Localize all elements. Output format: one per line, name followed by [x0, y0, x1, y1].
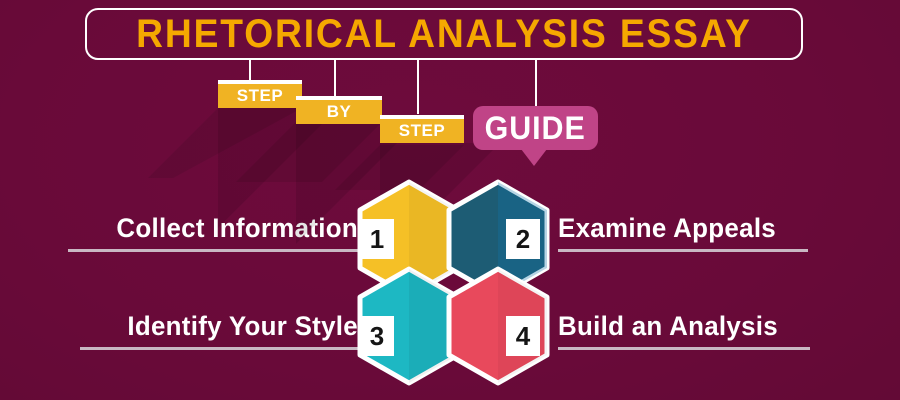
- hexagon-step-4-number: 4: [506, 316, 540, 356]
- step-label-2: Examine Appeals: [558, 215, 808, 252]
- step-label-1-text: Collect Information: [80, 215, 358, 242]
- poster-title: RHETORICAL ANALYSIS ESSAY: [136, 14, 752, 54]
- ribbon-step-2: BY: [296, 96, 382, 124]
- step-chip-shadow-1: [148, 108, 302, 178]
- ribbon-step-3: STEP: [380, 115, 464, 143]
- step-label-2-text: Examine Appeals: [558, 215, 798, 242]
- guide-bubble-tail: [521, 149, 547, 166]
- hexagon-step-2-number-text: 2: [516, 226, 530, 252]
- infographic-poster: RHETORICAL ANALYSIS ESSAY STEP BY STEP G…: [0, 0, 900, 400]
- ribbon-step-3-label: STEP: [399, 121, 445, 141]
- guide-label: GUIDE: [485, 112, 586, 144]
- step-chip-shadow-2: [236, 122, 382, 182]
- hexagon-step-4-number-text: 4: [516, 323, 530, 349]
- step-label-3-text: Identify Your Style: [91, 313, 358, 340]
- hexagon-step-3-number-text: 3: [370, 323, 384, 349]
- poster-title-box: RHETORICAL ANALYSIS ESSAY: [85, 8, 803, 60]
- step-label-1: Collect Information: [68, 215, 358, 252]
- step-label-4: Build an Analysis: [558, 313, 810, 350]
- connector-line-2: [334, 60, 336, 100]
- step-label-3: Identify Your Style: [80, 313, 358, 350]
- ribbon-step-2-label: BY: [327, 102, 352, 122]
- step-label-4-rule: [558, 347, 810, 350]
- ribbon-step-1: STEP: [218, 80, 302, 108]
- ribbon-step-1-label: STEP: [237, 86, 283, 106]
- hexagon-step-1-number-text: 1: [370, 226, 384, 252]
- guide-bubble: GUIDE: [473, 106, 598, 150]
- connector-line-4: [535, 60, 537, 108]
- step-label-4-text: Build an Analysis: [558, 313, 800, 340]
- hexagon-step-1-number: 1: [360, 219, 394, 259]
- step-label-2-rule: [558, 249, 808, 252]
- step-label-3-rule: [80, 347, 358, 350]
- step-label-1-rule: [68, 249, 358, 252]
- hexagon-step-2-number: 2: [506, 219, 540, 259]
- hexagon-step-3-number: 3: [360, 316, 394, 356]
- connector-line-3: [417, 60, 419, 114]
